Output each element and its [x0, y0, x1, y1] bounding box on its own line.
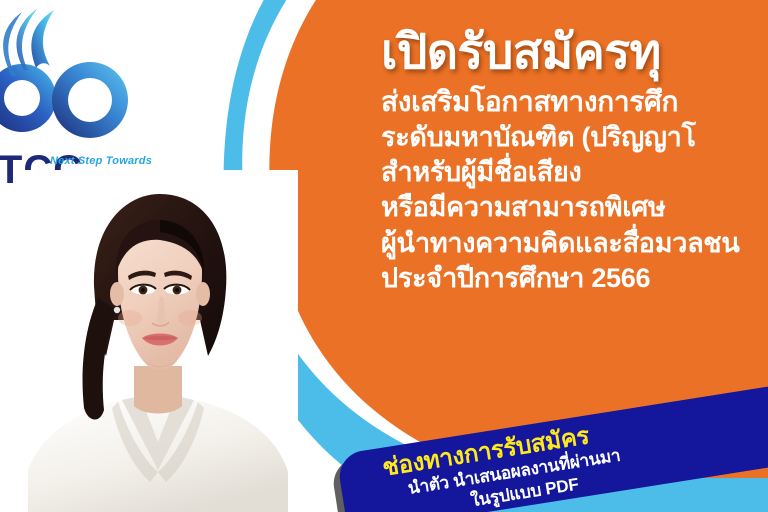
poster-canvas: UTCC Next Step Towards Sustainability — [0, 0, 768, 512]
headline-main: เปิดรับสมัครทุ — [381, 28, 768, 78]
utcc-60-anniversary-mark — [0, 8, 166, 158]
headline-line-6: ประจำปีการศึกษา 2566 — [381, 261, 768, 296]
logo-tagline-line1: Next Step Towards — [50, 156, 152, 168]
headline-block: เปิดรับสมัครทุ ส่งเสริมโอกาสทางการศึก ระ… — [381, 28, 768, 296]
headline-line-2: ระดับมหาบัณฑิต (ปริญญาโ — [381, 120, 768, 155]
headline-line-5: ผู้นำทางความคิดและสื่อมวลชน — [381, 226, 768, 261]
headline-line-3: สำหรับผู้มีชื่อเสียง — [381, 155, 768, 190]
portrait-photo — [18, 170, 298, 512]
headline-line-1: ส่งเสริมโอกาสทางการศึก — [381, 84, 768, 120]
headline-line-4: หรือมีความสามารถพิเศษ — [381, 190, 768, 225]
